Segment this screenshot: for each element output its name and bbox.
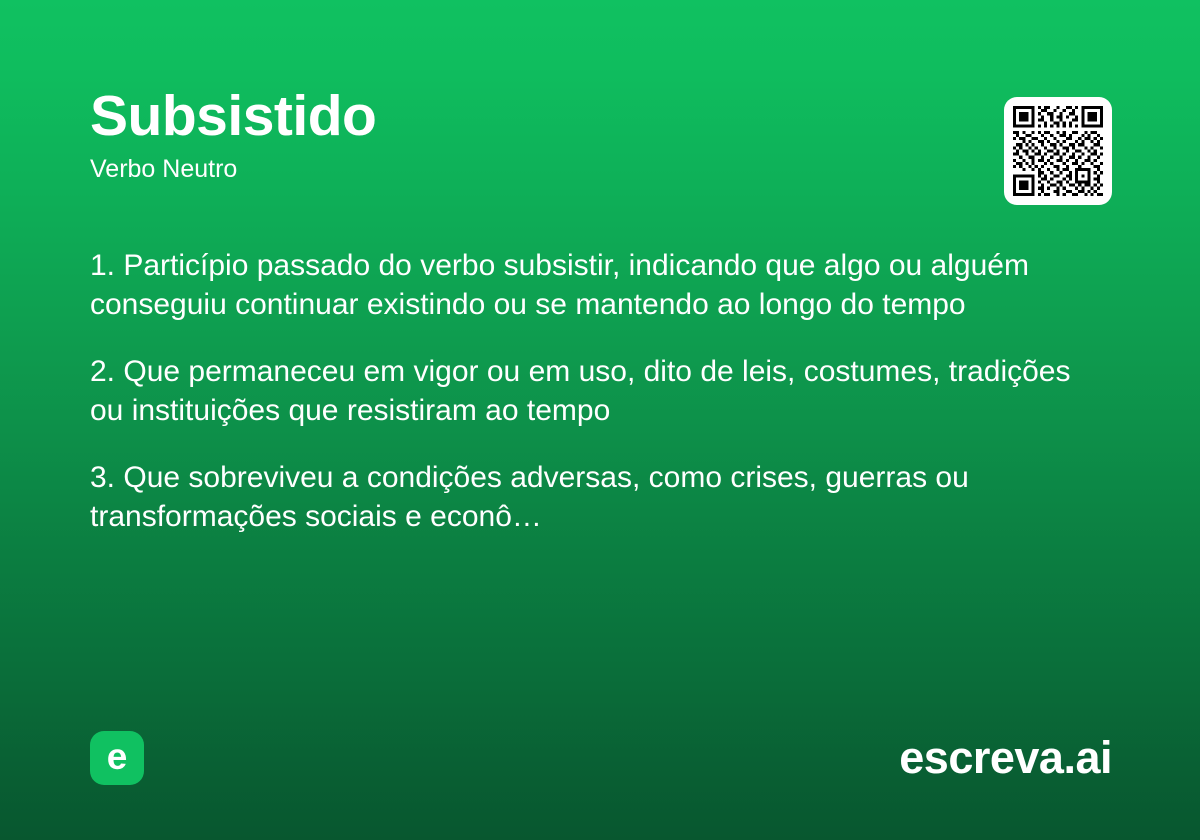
qr-code-card[interactable] <box>1004 97 1112 205</box>
definitions-list: 1. Particípio passado do verbo subsistir… <box>90 246 1112 536</box>
card-footer: e escreva.ai <box>90 730 1112 786</box>
definition-item: 3. Que sobreviveu a condições adversas, … <box>90 458 1112 536</box>
word-class-label: Verbo Neutro <box>90 154 1110 184</box>
logo-letter: e <box>107 738 128 775</box>
definition-item: 2. Que permaneceu em vigor ou em uso, di… <box>90 352 1112 430</box>
dictionary-card: Subsistido Verbo Neutro <box>0 0 1200 840</box>
card-header: Subsistido Verbo Neutro <box>90 84 1110 184</box>
word-title: Subsistido <box>90 84 1110 148</box>
definition-item: 1. Particípio passado do verbo subsistir… <box>90 246 1112 324</box>
escreva-logo-badge: e <box>90 731 144 785</box>
qr-code-icon <box>1013 106 1103 196</box>
brand-wordmark: escreva.ai <box>899 734 1112 782</box>
